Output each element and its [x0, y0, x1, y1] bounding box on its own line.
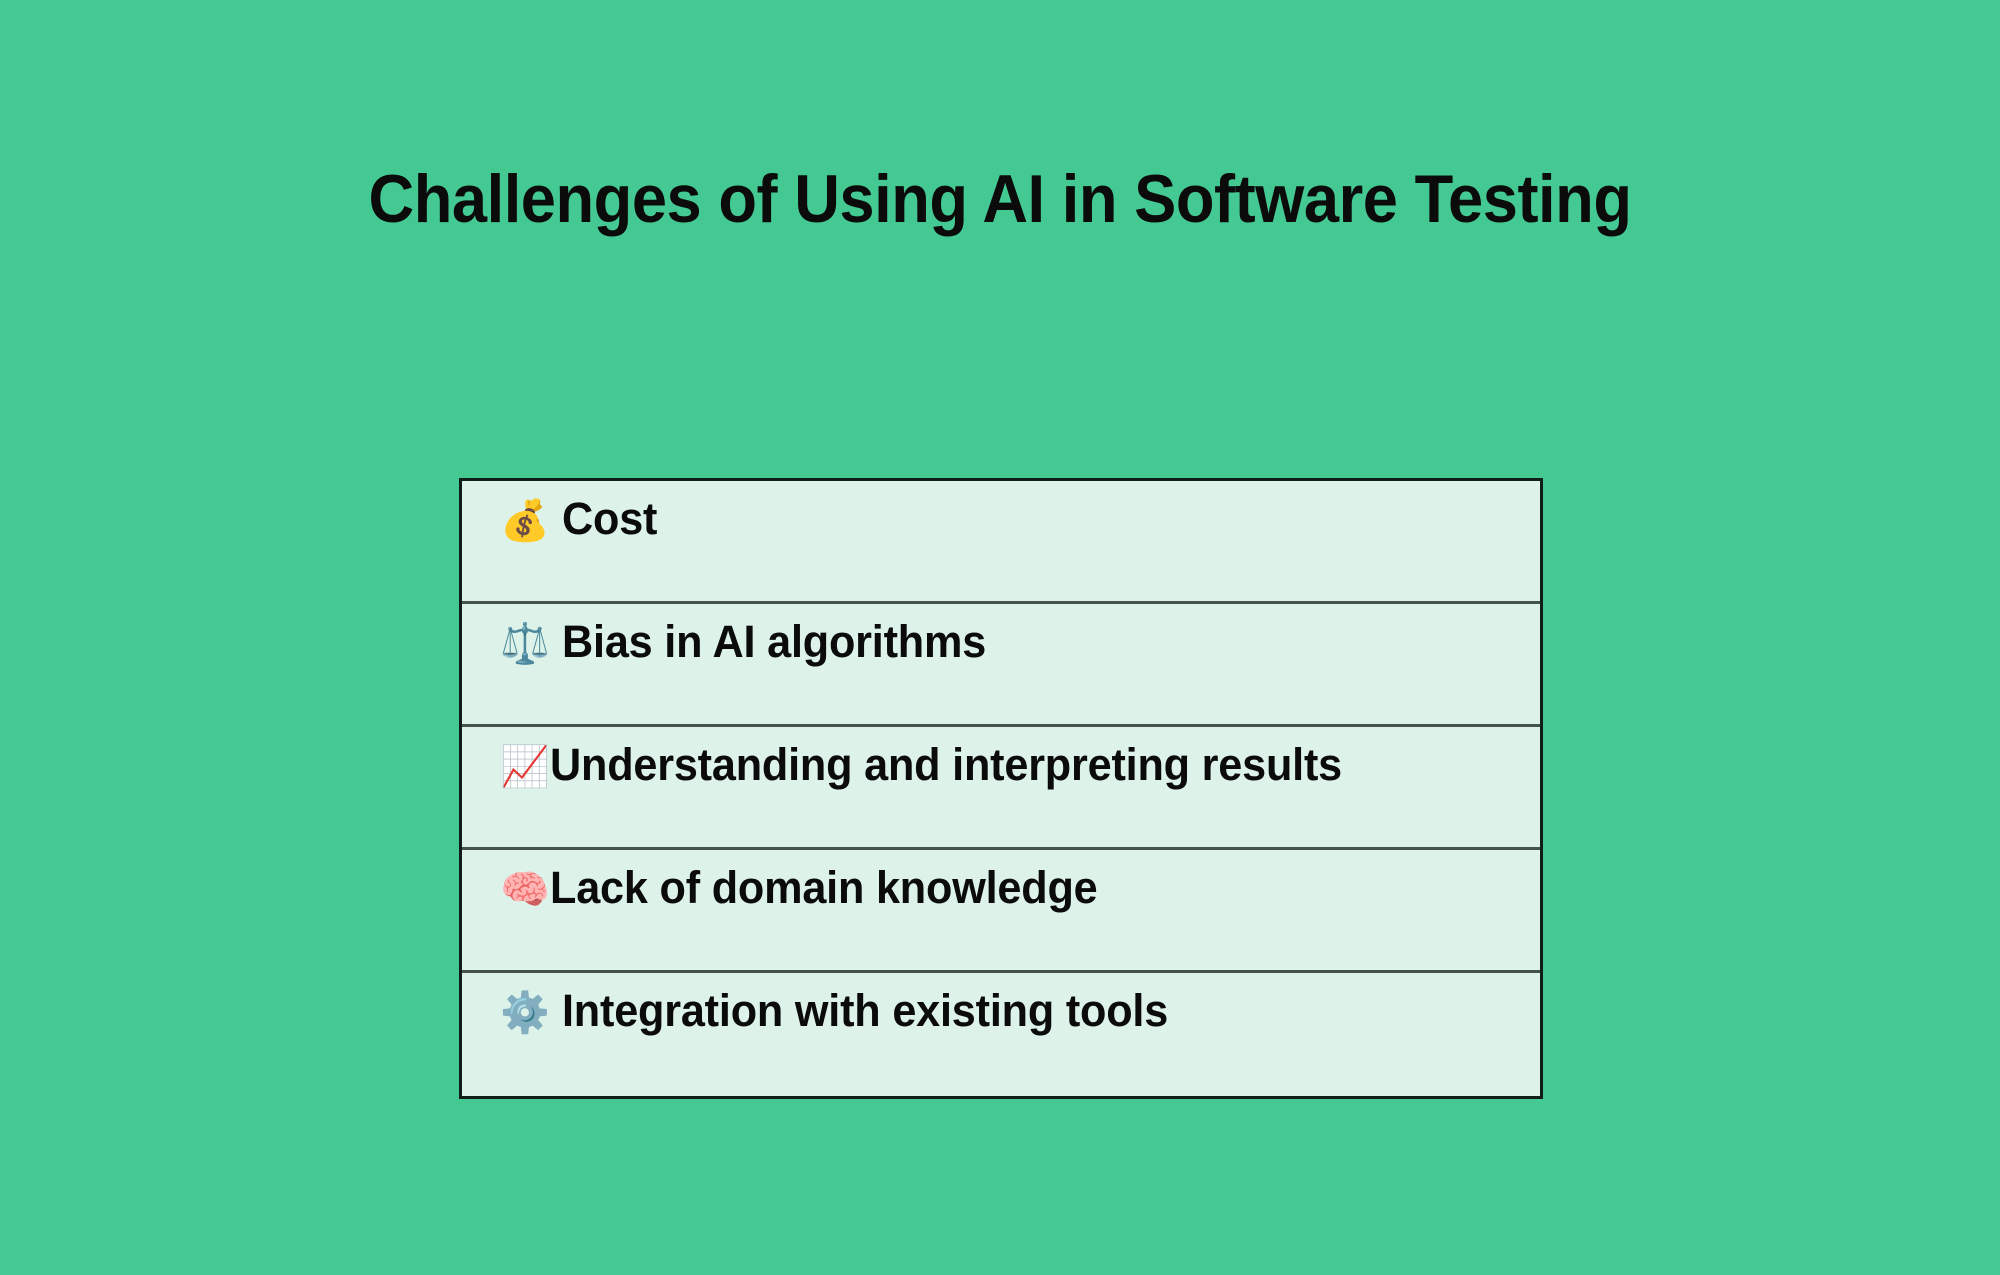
table-row-label: Understanding and interpreting results [550, 741, 1342, 788]
table-row-content: 💰 Cost [500, 495, 1530, 542]
table-row[interactable]: 💰 Cost [462, 481, 1540, 604]
table-row[interactable]: ⚙️ Integration with existing tools [462, 973, 1540, 1096]
challenges-table: 💰 Cost ⚖️ Bias in AI algorithms 📈 Unders… [459, 478, 1543, 1099]
table-row-label: Lack of domain knowledge [550, 864, 1097, 911]
table-row[interactable]: 🧠 Lack of domain knowledge [462, 850, 1540, 973]
table-row[interactable]: 📈 Understanding and interpreting results [462, 727, 1540, 850]
table-row[interactable]: ⚖️ Bias in AI algorithms [462, 604, 1540, 727]
title-container: Challenges of Using AI in Software Testi… [300, 160, 1700, 239]
table-row-label: Bias in AI algorithms [562, 618, 986, 665]
money-bag-emoji: 💰 [500, 501, 550, 541]
slide-canvas: Challenges of Using AI in Software Testi… [0, 0, 2000, 1275]
table-row-content: 📈 Understanding and interpreting results [500, 741, 1530, 788]
brain-emoji: 🧠 [500, 870, 550, 910]
page-title: Challenges of Using AI in Software Testi… [349, 160, 1651, 239]
balance-scale-emoji: ⚖️ [500, 624, 550, 664]
table-row-label: Integration with existing tools [562, 987, 1168, 1034]
chart-increasing-emoji: 📈 [500, 747, 550, 787]
table-row-label: Cost [562, 495, 657, 542]
gear-emoji: ⚙️ [500, 993, 550, 1033]
table-row-content: ⚙️ Integration with existing tools [500, 987, 1530, 1034]
table-row-content: 🧠 Lack of domain knowledge [500, 864, 1530, 911]
table-row-content: ⚖️ Bias in AI algorithms [500, 618, 1530, 665]
